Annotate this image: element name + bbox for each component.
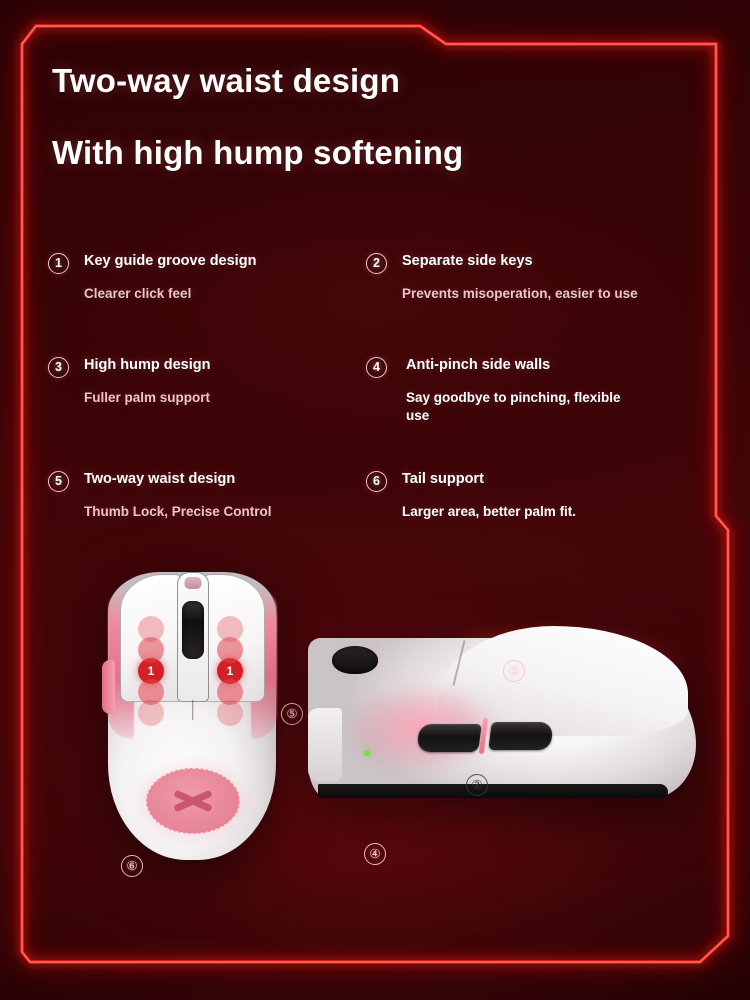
mouse-top-view-image: 1 1 <box>100 572 285 862</box>
mouse-thumb-rest <box>102 660 115 714</box>
feature-title: Key guide groove design <box>84 252 366 270</box>
callout-marker-side-keys: ② <box>466 774 488 796</box>
feature-number-badge: 2 <box>366 253 387 274</box>
mouse-side-button-back <box>416 724 481 752</box>
headline-secondary: With high hump softening <box>52 134 692 172</box>
feature-number-badge: 3 <box>48 357 69 378</box>
feature-item-1: 1 Key guide groove design Clearer click … <box>48 252 366 310</box>
feature-item-2: 2 Separate side keys Prevents misoperati… <box>366 252 708 310</box>
headline-primary: Two-way waist design <box>52 62 692 100</box>
mouse-side-button-forward <box>488 722 553 750</box>
feature-item-3: 3 High hump design Fuller palm support <box>48 356 366 424</box>
feature-title: High hump design <box>84 356 366 374</box>
feature-title: Separate side keys <box>402 252 708 270</box>
feature-number-badge: 5 <box>48 471 69 492</box>
feature-grid: 1 Key guide groove design Clearer click … <box>48 252 708 528</box>
product-banner: Two-way waist design With high hump soft… <box>0 0 750 1000</box>
feature-subtitle: Larger area, better palm fit. <box>402 503 708 521</box>
feature-item-5: 5 Two-way waist design Thumb Lock, Preci… <box>48 470 366 528</box>
feature-title: Anti-pinch side walls <box>406 356 708 374</box>
feature-subtitle: Fuller palm support <box>84 389 366 407</box>
mouse-base-edge <box>318 784 668 798</box>
callout-marker-tail: ⑥ <box>121 855 143 877</box>
feature-subtitle: Prevents misoperation, easier to use <box>402 285 708 303</box>
headline-block: Two-way waist design With high hump soft… <box>52 62 692 172</box>
feature-number-badge: 4 <box>366 357 387 378</box>
feature-number-badge: 6 <box>366 471 387 492</box>
callout-marker-waist: ⑤ <box>281 703 303 725</box>
feature-title: Tail support <box>402 470 708 488</box>
mouse-side-view-image <box>308 600 698 850</box>
mouse-scroll-wheel-side <box>332 646 378 674</box>
mouse-center-seam <box>192 700 194 720</box>
mouse-wheel-highlight <box>184 577 201 589</box>
callout-marker-side-wall: ④ <box>364 843 386 865</box>
groove-dots-left: 1 <box>138 616 168 721</box>
status-led-icon <box>364 750 370 756</box>
groove-dot <box>138 637 164 663</box>
feature-number-badge: 1 <box>48 253 69 274</box>
groove-dot <box>217 700 243 726</box>
product-photo-area: 1 1 ⑤ ⑥ <box>0 540 750 940</box>
mouse-tail-logo-patch <box>146 768 240 834</box>
feature-subtitle: Say goodbye to pinching, flexible use <box>406 389 646 424</box>
mouse-scroll-wheel <box>182 601 204 659</box>
groove-dots-right: 1 <box>217 616 247 721</box>
groove-dot <box>138 700 164 726</box>
feature-item-4: 4 Anti-pinch side walls Say goodbye to p… <box>366 356 708 424</box>
feature-subtitle: Clearer click feel <box>84 285 366 303</box>
callout-marker-hump: ③ <box>503 660 525 682</box>
feature-item-6: 6 Tail support Larger area, better palm … <box>366 470 708 528</box>
mouse-wheel-housing <box>177 572 209 702</box>
mouse-front-nose <box>308 708 342 782</box>
groove-dot <box>217 637 243 663</box>
brand-x-logo-icon <box>174 788 212 814</box>
feature-title: Two-way waist design <box>84 470 366 488</box>
feature-subtitle: Thumb Lock, Precise Control <box>84 503 366 521</box>
